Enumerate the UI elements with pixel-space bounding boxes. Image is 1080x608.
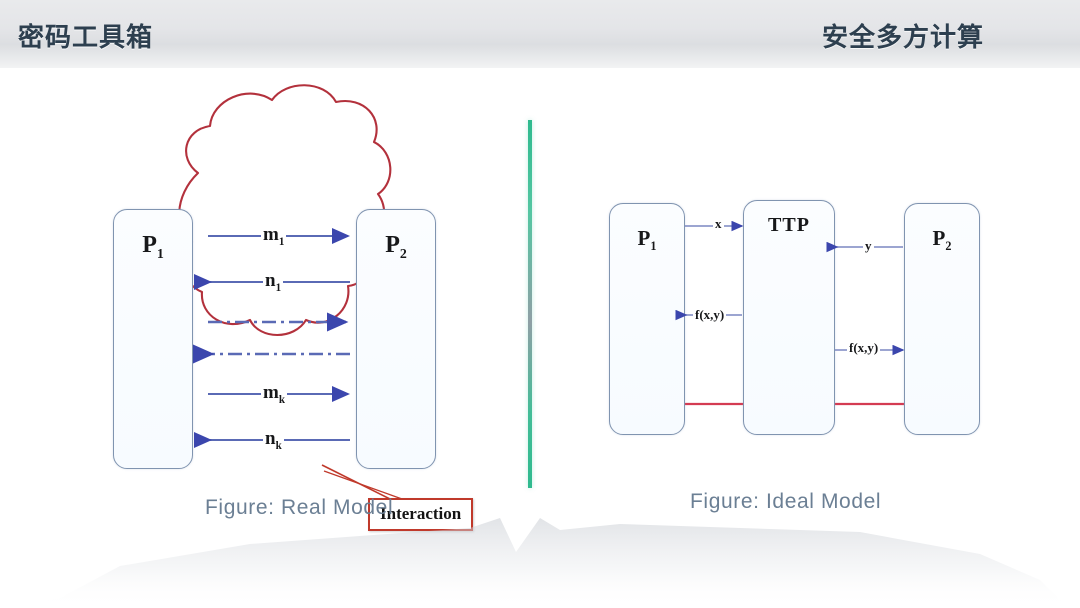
real-model-caption: Figure: Real Model <box>205 496 393 520</box>
ideal-model-caption: Figure: Ideal Model <box>690 490 881 514</box>
flow-label-x: x <box>713 216 724 232</box>
header-title-right: 安全多方计算 <box>822 17 984 54</box>
flow-label-fxy-left: f(x,y) <box>693 307 726 323</box>
message-label-m1: m1 <box>261 224 286 248</box>
message-label-mk: mk <box>261 382 287 406</box>
flow-label-y: y <box>863 238 874 254</box>
ideal-model-diagram: P1 TTP P2 <box>528 68 1080 538</box>
slide-body: P1 P2 <box>0 68 1080 608</box>
header-bar: 密码工具箱 安全多方计算 <box>0 0 1080 69</box>
message-label-n1: n1 <box>263 270 283 294</box>
party-box-p1[interactable]: P1 <box>113 209 193 469</box>
ideal-flow-arrow-group <box>606 198 1006 458</box>
real-model-diagram: P1 P2 <box>0 68 528 538</box>
header-title-left: 密码工具箱 <box>18 17 153 54</box>
flow-label-fxy-right: f(x,y) <box>847 340 880 356</box>
party-box-p1-label: P1 <box>114 232 192 263</box>
message-label-nk: nk <box>263 428 284 452</box>
message-arrow-group <box>208 228 408 488</box>
